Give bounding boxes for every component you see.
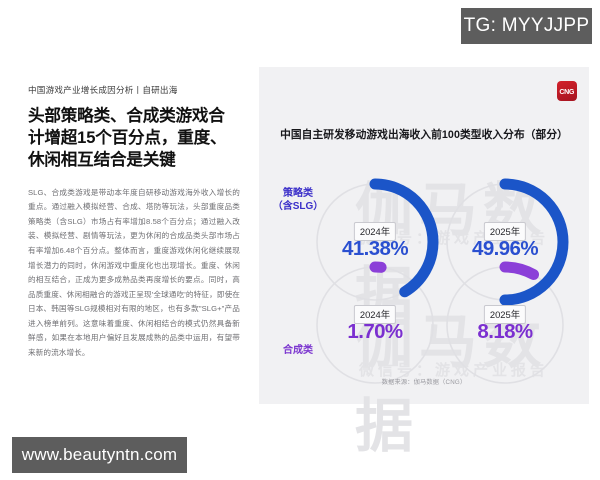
source-note: 数据来源：伽马数据（CNG）: [259, 377, 589, 386]
article-column: 中国游戏产业增长成因分析丨自研出海 头部策略类、合成类游戏合计增超15个百分点，…: [28, 84, 240, 361]
article-body: SLG、合成类游戏是带动本年度自研移动游戏海外收入增长的重点。通过融入模拟经营、…: [28, 186, 240, 361]
site-watermark-badge: www.beautyntn.com: [12, 437, 187, 473]
chart-panel: CNG 中国自主研发移动游戏出海收入前100类型收入分布（部分） 伽马数据 微信…: [259, 67, 589, 404]
value-merge-2025: 8.18%: [477, 320, 532, 344]
tg-watermark-badge: TG: MYYJJPP: [461, 8, 592, 44]
value-merge-2024: 1.70%: [347, 320, 402, 344]
value-strategy-2025: 49.96%: [472, 237, 538, 261]
screenshot-root: 中国游戏产业增长成因分析丨自研出海 头部策略类、合成类游戏合计增超15个百分点，…: [0, 0, 600, 480]
article-headline: 头部策略类、合成类游戏合计增超15个百分点，重度、休闲相互结合是关键: [28, 105, 240, 172]
value-strategy-2024: 41.38%: [342, 237, 408, 261]
donut-rings-svg: [259, 67, 589, 404]
article-kicker: 中国游戏产业增长成因分析丨自研出海: [28, 84, 240, 96]
